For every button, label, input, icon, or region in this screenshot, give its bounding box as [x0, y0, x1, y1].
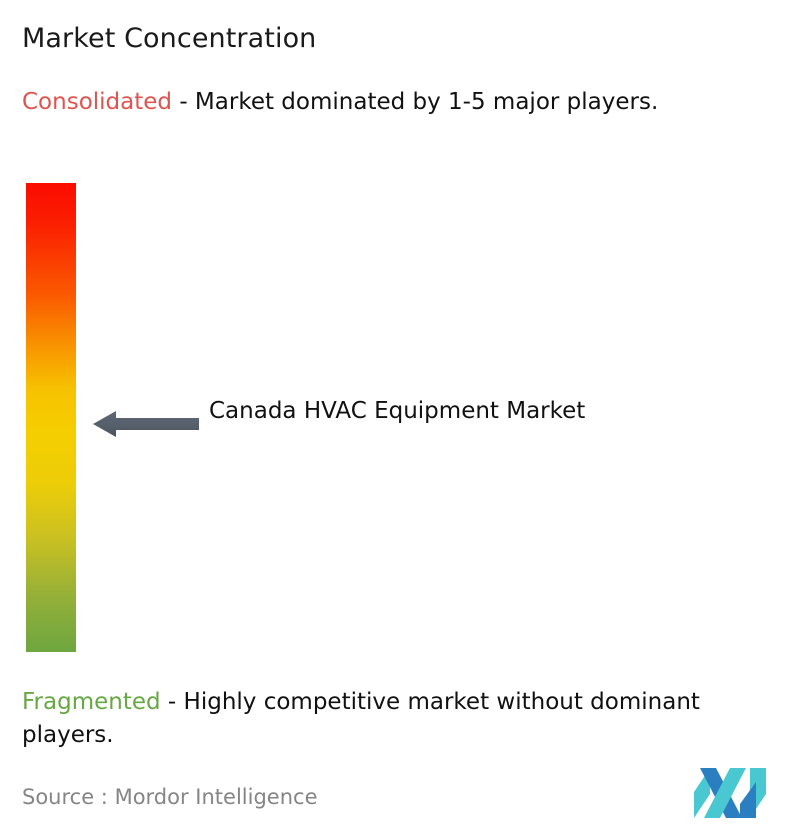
page-title: Market Concentration [22, 22, 316, 56]
legend-fragmented: Fragmented - Highly competitive market w… [22, 686, 790, 752]
legend-consolidated: Consolidated - Market dominated by 1-5 m… [22, 86, 774, 119]
market-concentration-infographic: Market Concentration Consolidated - Mark… [0, 0, 796, 834]
source-value: Mordor Intelligence [115, 785, 318, 809]
source-label: Source : [22, 785, 108, 809]
market-concentration-gradient-bar [26, 183, 76, 652]
marker-arrow-left-icon [90, 404, 202, 444]
legend-consolidated-term: Consolidated [22, 89, 172, 115]
mordor-intelligence-logo-icon [694, 768, 768, 818]
legend-consolidated-description: - Market dominated by 1-5 major players. [172, 89, 658, 115]
legend-fragmented-term: Fragmented [22, 689, 161, 715]
source-line: Source : Mordor Intelligence [22, 783, 317, 811]
marker-label-canada-hvac-equipment-market: Canada HVAC Equipment Market [209, 394, 609, 428]
